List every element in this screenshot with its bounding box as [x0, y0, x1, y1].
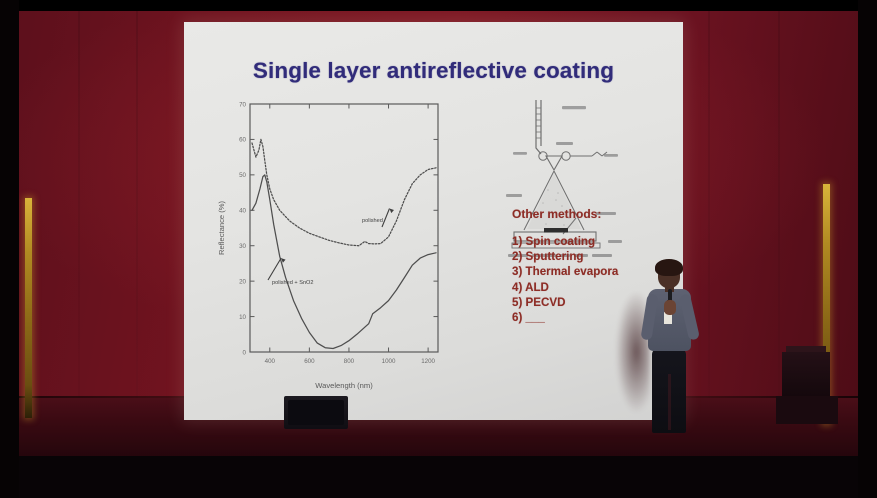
presenter-leg-gap [668, 374, 671, 430]
svg-text:50: 50 [239, 172, 246, 179]
svg-text:70: 70 [239, 101, 246, 108]
projection-slide: Single layer antireflective coating 4006… [184, 22, 683, 420]
svg-text:1200: 1200 [421, 358, 435, 365]
svg-text:10: 10 [239, 314, 246, 321]
svg-text:0: 0 [243, 349, 247, 356]
stage-light-strip-left [25, 198, 32, 418]
svg-text:600: 600 [304, 358, 315, 365]
svg-text:20: 20 [239, 278, 246, 285]
frame-letterbox-top [0, 0, 877, 11]
stage-monitor-speaker [284, 396, 348, 429]
presentation-photo-frame: Single layer antireflective coating 4006… [0, 0, 877, 498]
method-item: 1) Spin coating [512, 236, 682, 248]
presenter-hand [664, 300, 676, 315]
frame-letterbox-bottom [0, 456, 877, 498]
stage-monitor-face [288, 400, 344, 425]
svg-text:40: 40 [239, 208, 246, 215]
svg-text:400: 400 [265, 358, 276, 365]
reflectance-chart: 40060080010001200010203040506070polished… [210, 94, 448, 406]
svg-text:polished: polished [362, 218, 383, 224]
slide-title: Single layer antireflective coating [184, 58, 683, 84]
svg-text:1000: 1000 [382, 358, 396, 365]
right-equipment-base [776, 396, 838, 424]
right-speaker-cabinet [782, 352, 830, 398]
presenter-hair [655, 259, 683, 276]
svg-text:Wavelength (nm): Wavelength (nm) [315, 381, 373, 390]
series-polished [252, 139, 436, 245]
svg-text:polished + SnO2: polished + SnO2 [272, 280, 314, 286]
frame-letterbox-left [0, 0, 19, 498]
series-polished-sno2 [252, 175, 436, 349]
frame-letterbox-right [858, 0, 877, 498]
svg-text:30: 30 [239, 243, 246, 250]
reflectance-chart-svg: 40060080010001200010203040506070polished… [210, 94, 448, 406]
svg-text:60: 60 [239, 137, 246, 144]
other-methods-heading: Other methods: [512, 208, 682, 221]
svg-text:Reflectance (%): Reflectance (%) [217, 201, 226, 255]
svg-text:800: 800 [344, 358, 355, 365]
presenter [638, 256, 700, 438]
